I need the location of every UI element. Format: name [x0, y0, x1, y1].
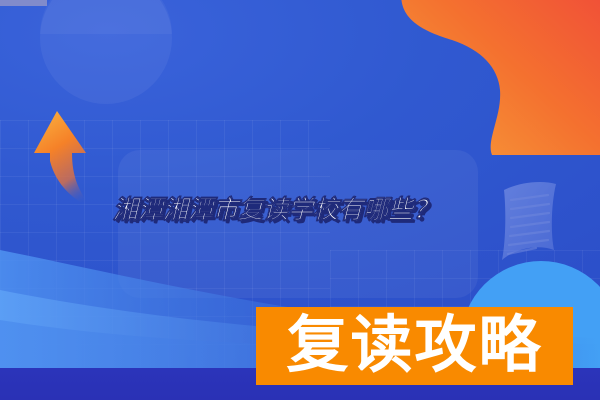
- page-title: 湘潭湘潭市复读学校有哪些？: [113, 190, 438, 226]
- top-right-blob: [400, 0, 600, 155]
- banner-label: 复读攻略: [256, 307, 573, 385]
- up-arrow-icon: [20, 105, 110, 220]
- top-left-circle-highlight: [40, 0, 172, 34]
- top-left-light-bar: [0, 0, 47, 6]
- banner: 复读攻略: [256, 307, 573, 385]
- poster-canvas: 湘潭湘潭市复读学校有哪些？ 复读攻略: [0, 0, 600, 400]
